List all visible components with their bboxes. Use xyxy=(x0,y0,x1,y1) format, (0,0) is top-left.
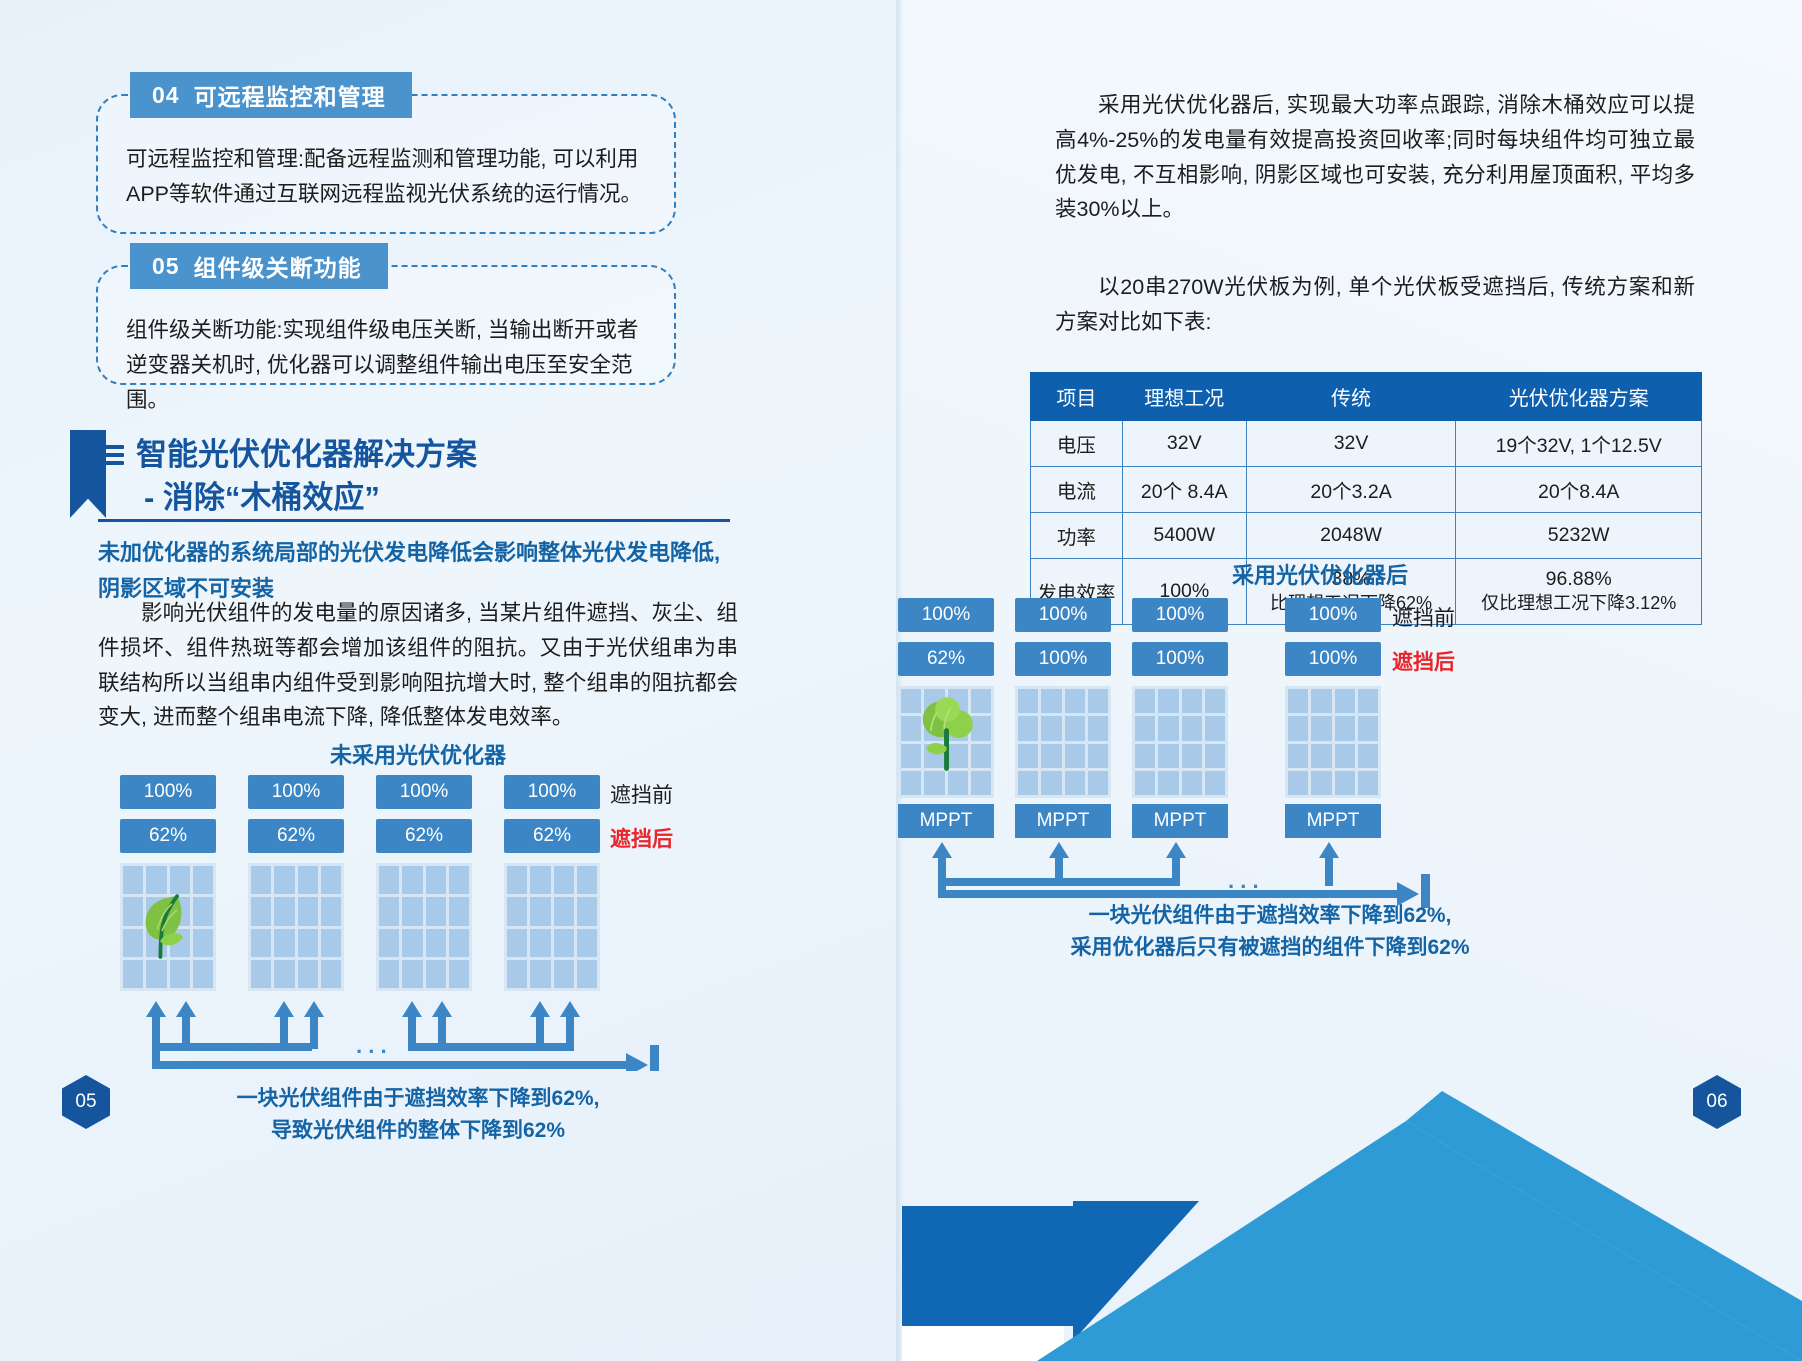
opt-badge-before-4: 100% xyxy=(1285,598,1381,632)
bottom-decoration xyxy=(902,1051,1802,1361)
left-diagram-title: 未采用光伏优化器 xyxy=(98,738,738,770)
solar-panel-2 xyxy=(248,863,344,991)
row-label-current: 电流 xyxy=(1031,467,1123,513)
opt-solar-panel-3 xyxy=(1132,686,1228,798)
panel-badge-before-1: 100% xyxy=(120,775,216,809)
opt-solar-panel-2 xyxy=(1015,686,1111,798)
feature-card-04-number: 04 xyxy=(152,82,180,109)
left-caption-line2: 导致光伏组件的整体下降到62% xyxy=(98,1115,738,1147)
cell-current-optimizer: 20个8.4A xyxy=(1456,467,1702,513)
left-legend-after: 遮挡后 xyxy=(610,823,673,853)
table-header-row: 项目 理想工况 传统 光伏优化器方案 xyxy=(1031,373,1702,421)
table-row: 功率 5400W 2048W 5232W xyxy=(1031,513,1702,559)
right-caption-line2: 采用优化器后只有被遮挡的组件下降到62% xyxy=(940,932,1600,964)
panel-badge-after-2: 62% xyxy=(248,819,344,853)
table-header-traditional: 传统 xyxy=(1246,373,1456,421)
left-paragraph: 影响光伏组件的发电量的原因诸多, 当某片组件遮挡、灰尘、组件损坏、组件热斑等都会… xyxy=(98,596,738,735)
cell-power-ideal: 5400W xyxy=(1122,513,1246,559)
mppt-box-2: MPPT xyxy=(1015,804,1111,838)
table-header-ideal: 理想工况 xyxy=(1122,373,1246,421)
right-legend-before: 遮挡前 xyxy=(1392,602,1455,632)
solar-panel-3 xyxy=(376,863,472,991)
section-heading: 智能光伏优化器解决方案 - 消除“木桶效应” xyxy=(98,434,477,521)
right-wiring-diagram: . . . xyxy=(898,838,1458,908)
opt-badge-after-4: 100% xyxy=(1285,642,1381,676)
table-header-optimizer: 光伏优化器方案 xyxy=(1456,373,1702,421)
row-label-power: 功率 xyxy=(1031,513,1123,559)
cell-power-traditional: 2048W xyxy=(1246,513,1456,559)
table-header-item: 项目 xyxy=(1031,373,1123,421)
table-row: 电压 32V 32V 19个32V, 1个12.5V xyxy=(1031,421,1702,467)
right-paragraph-1: 采用光伏优化器后, 实现最大功率点跟踪, 消除木桶效应可以提高4%-25%的发电… xyxy=(1055,88,1695,227)
panel-badge-after-3: 62% xyxy=(376,819,472,853)
cell-voltage-traditional: 32V xyxy=(1246,421,1456,467)
cell-power-optimizer: 5232W xyxy=(1456,513,1702,559)
right-caption-line1: 一块光伏组件由于遮挡效率下降到62%, xyxy=(940,900,1600,932)
feature-card-04-title: 可远程监控和管理 xyxy=(194,78,386,112)
hamburger-icon xyxy=(98,441,124,469)
panel-badge-before-2: 100% xyxy=(248,775,344,809)
panel-badge-after-1: 62% xyxy=(120,819,216,853)
cell-voltage-ideal: 32V xyxy=(1122,421,1246,467)
opt-badge-after-2: 100% xyxy=(1015,642,1111,676)
opt-badge-before-2: 100% xyxy=(1015,598,1111,632)
tree-icon xyxy=(908,693,990,775)
opt-solar-panel-4 xyxy=(1285,686,1381,798)
leaf-icon xyxy=(130,887,206,963)
panel-badge-before-3: 100% xyxy=(376,775,472,809)
opt-badge-after-3: 100% xyxy=(1132,642,1228,676)
opt-badge-before-3: 100% xyxy=(1132,598,1228,632)
feature-card-05: 05 组件级关断功能 组件级关断功能:实现组件级电压关断, 当输出断开或者逆变器… xyxy=(96,265,676,385)
left-diagram: 100% 100% 100% 100% 遮挡前 62% 62% 62% 62% … xyxy=(120,775,740,1075)
brochure-spread: 04 可远程监控和管理 可远程监控和管理:配备远程监测和管理功能, 可以利用AP… xyxy=(0,0,1802,1361)
left-caption-line1: 一块光伏组件由于遮挡效率下降到62%, xyxy=(98,1083,738,1115)
row-label-voltage: 电压 xyxy=(1031,421,1123,467)
solar-panel-4 xyxy=(504,863,600,991)
feature-card-05-body: 组件级关断功能:实现组件级电压关断, 当输出断开或者逆变器关机时, 优化器可以调… xyxy=(98,267,674,429)
right-diagram: 100% 100% 100% 100% 遮挡前 62% 100% 100% 10… xyxy=(898,598,1578,898)
cell-voltage-optimizer: 19个32V, 1个12.5V xyxy=(1456,421,1702,467)
feature-card-04: 04 可远程监控和管理 可远程监控和管理:配备远程监测和管理功能, 可以利用AP… xyxy=(96,94,676,234)
feature-card-05-number: 05 xyxy=(152,253,180,280)
opt-badge-before-1: 100% xyxy=(898,598,994,632)
left-ellipsis: . . . xyxy=(356,1033,387,1058)
feature-card-04-tab: 04 可远程监控和管理 xyxy=(130,72,412,118)
right-legend-after: 遮挡后 xyxy=(1392,646,1455,676)
left-legend-before: 遮挡前 xyxy=(610,779,673,809)
right-diagram-title: 采用光伏优化器后 xyxy=(1000,558,1640,590)
section-divider xyxy=(98,519,730,522)
mppt-box-3: MPPT xyxy=(1132,804,1228,838)
right-paragraph-2: 以20串270W光伏板为例, 单个光伏板受遮挡后, 传统方案和新方案对比如下表: xyxy=(1055,270,1695,340)
mppt-box-1: MPPT xyxy=(898,804,994,838)
feature-card-05-tab: 05 组件级关断功能 xyxy=(130,243,388,289)
opt-badge-after-1: 62% xyxy=(898,642,994,676)
section-heading-line2: - 消除“木桶效应” xyxy=(98,476,477,521)
section-heading-line1: 智能光伏优化器解决方案 xyxy=(136,434,477,476)
feature-card-05-title: 组件级关断功能 xyxy=(194,249,362,283)
left-caption: 一块光伏组件由于遮挡效率下降到62%, 导致光伏组件的整体下降到62% xyxy=(98,1083,738,1146)
left-wiring-diagram: . . . xyxy=(120,991,680,1071)
cell-current-ideal: 20个 8.4A xyxy=(1122,467,1246,513)
cell-current-traditional: 20个3.2A xyxy=(1246,467,1456,513)
panel-badge-after-4: 62% xyxy=(504,819,600,853)
panel-badge-before-4: 100% xyxy=(504,775,600,809)
right-ellipsis: . . . xyxy=(1228,868,1259,893)
mppt-box-4: MPPT xyxy=(1285,804,1381,838)
table-row: 电流 20个 8.4A 20个3.2A 20个8.4A xyxy=(1031,467,1702,513)
right-caption: 一块光伏组件由于遮挡效率下降到62%, 采用优化器后只有被遮挡的组件下降到62% xyxy=(940,900,1600,963)
